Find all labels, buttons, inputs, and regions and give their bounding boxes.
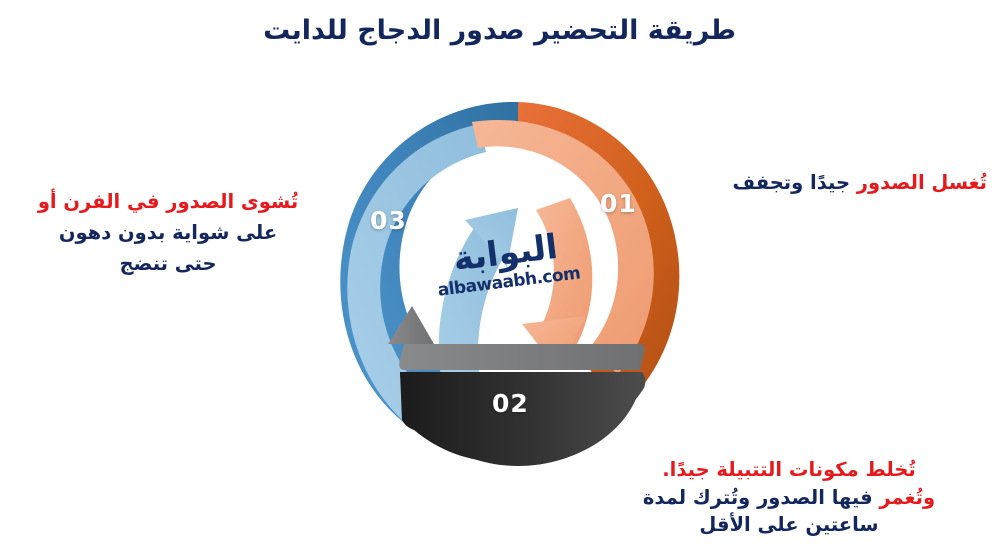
step-02-line3-rest: ساعتين على الأقل [699, 513, 878, 536]
diagram-svg [322, 78, 692, 466]
step-02-line-2: وتُغمر فيها الصدور وتُترك لمدة [589, 484, 989, 512]
step-03-line-1: تُشوى الصدور في الفرن أو [8, 186, 328, 217]
step-03-line-2: على شواية بدون دهون [8, 217, 328, 248]
step-02-text: تُخلط مكونات التتبيلة جيدًا. وتُغمر فيها… [589, 456, 989, 539]
step-01-text: تُغسل الصدور جيدًا وتجفف [657, 168, 987, 197]
step-02-line1-highlight: تُخلط مكونات التتبيلة جيدًا. [662, 458, 915, 481]
step-02-line2-rest: فيها الصدور وتُترك لمدة [643, 486, 880, 509]
step-03-line1-highlight: تُشوى الصدور في الفرن أو [38, 190, 298, 213]
step-03-line-3: حتى تنضج [8, 248, 328, 279]
step-02-line2-highlight: وتُغمر [879, 486, 935, 509]
step-03-text: تُشوى الصدور في الفرن أو على شواية بدون … [8, 186, 328, 280]
step-01-highlight: تُغسل الصدور [857, 171, 987, 194]
step-03-line2-rest: على شواية بدون دهون [59, 221, 277, 244]
page-title: طريقة التحضير صدور الدجاج للدايت [0, 14, 999, 48]
segment-02[interactable] [400, 372, 645, 466]
step-02-line-3: ساعتين على الأقل [589, 511, 989, 539]
step-03-line3-rest: حتى تنضج [119, 252, 216, 275]
process-diagram: 01 02 03 البوابة albawaabh.com [322, 78, 692, 466]
step-01-rest: جيدًا وتجفف [733, 171, 857, 194]
step-02-line-1: تُخلط مكونات التتبيلة جيدًا. [589, 456, 989, 484]
